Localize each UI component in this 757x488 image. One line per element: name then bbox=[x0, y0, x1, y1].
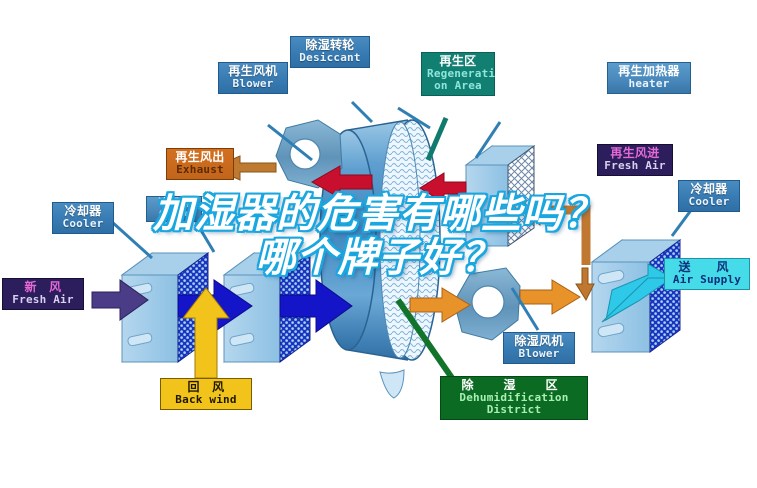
label-dehumidify-blower-cn: 除湿风机 bbox=[509, 335, 569, 348]
label-cooler-right-cn: 冷却器 bbox=[684, 183, 734, 196]
label-cooler-right[interactable]: 冷却器 Cooler bbox=[678, 180, 740, 212]
label-regen-exhaust-en: Exhaust bbox=[172, 164, 228, 176]
heater-inlet-arrow bbox=[524, 201, 594, 300]
label-regeneration-area-cn: 再生区 bbox=[427, 55, 489, 68]
regen-hot-arrow-2 bbox=[420, 173, 466, 203]
label-desiccant-wheel[interactable]: 除湿转轮 Desiccant bbox=[290, 36, 370, 68]
regen-hot-arrow bbox=[312, 166, 372, 198]
label-air-supply-cn: 送 风 bbox=[670, 261, 744, 274]
label-regeneration-area[interactable]: 再生区 Regenerati on Area bbox=[421, 52, 495, 96]
fresh-air-inlet-arrow bbox=[92, 280, 148, 320]
dehumidified-arrow-1 bbox=[410, 288, 470, 322]
label-fresh-air-inlet-en: Fresh Air bbox=[8, 294, 78, 306]
label-regen-exhaust[interactable]: 再生风出 Exhaust bbox=[166, 148, 234, 180]
label-cooler-right-en: Cooler bbox=[684, 196, 734, 208]
cooler-coil-mid bbox=[224, 253, 310, 362]
label-back-wind-cn: 回 风 bbox=[166, 381, 246, 394]
leader-line-dehumidification bbox=[398, 300, 452, 378]
label-air-supply-en: Air Supply bbox=[670, 274, 744, 286]
label-dehumidification-district[interactable]: 除 湿 区 Dehumidification District bbox=[440, 376, 588, 420]
label-air-supply[interactable]: 送 风 Air Supply bbox=[664, 258, 750, 290]
regeneration-blower bbox=[276, 120, 342, 188]
label-fresh-air-inlet-cn: 新 风 bbox=[8, 281, 78, 294]
label-regen-heater-en: heater bbox=[613, 78, 685, 90]
label-fresh-air-inlet[interactable]: 新 风 Fresh Air bbox=[2, 278, 84, 310]
cooler-coil-right bbox=[592, 240, 680, 352]
label-cooler-left-small-en: Cooler bbox=[152, 210, 196, 219]
label-dehumidify-blower[interactable]: 除湿风机 Blower bbox=[503, 332, 575, 364]
regeneration-heater-coil bbox=[466, 146, 534, 246]
label-regen-blower[interactable]: 再生风机 Blower bbox=[218, 62, 288, 94]
label-regen-heater-cn: 再生加热器 bbox=[613, 65, 685, 78]
cooler-coil-left bbox=[122, 253, 208, 362]
air-supply-arrow bbox=[602, 264, 672, 322]
leader-line-regeneration bbox=[428, 118, 446, 160]
label-regen-fresh-air-cn: 再生风进 bbox=[603, 147, 667, 160]
process-air-arrow-2 bbox=[280, 280, 352, 332]
label-regen-blower-en: Blower bbox=[224, 78, 282, 90]
label-regen-heater[interactable]: 再生加热器 heater bbox=[607, 62, 691, 94]
label-desiccant-wheel-cn: 除湿转轮 bbox=[296, 39, 364, 52]
label-dehumidification-district-cn: 除 湿 区 bbox=[446, 379, 582, 392]
label-back-wind-en: Back wind bbox=[166, 394, 246, 406]
label-regen-fresh-air-en: Fresh Air bbox=[603, 160, 667, 172]
back-wind-arrow bbox=[183, 288, 229, 378]
label-cooler-left-cn: 冷却器 bbox=[58, 205, 108, 218]
dehumidifier-flow-diagram: 再生风机 Blower 除湿转轮 Desiccant 再生区 Regenerat… bbox=[0, 0, 757, 488]
label-regen-fresh-air[interactable]: 再生风进 Fresh Air bbox=[597, 144, 673, 176]
dehumidified-arrow-2 bbox=[520, 280, 580, 314]
desiccant-rotor-wheel bbox=[320, 120, 440, 398]
headline-line-2: 哪个牌子好？ bbox=[0, 236, 757, 280]
label-regen-blower-cn: 再生风机 bbox=[224, 65, 282, 78]
label-cooler-left-en: Cooler bbox=[58, 218, 108, 230]
label-dehumidify-blower-en: Blower bbox=[509, 348, 569, 360]
label-regen-exhaust-cn: 再生风出 bbox=[172, 151, 228, 164]
label-cooler-left-small[interactable]: 冷却器 Cooler bbox=[146, 196, 202, 222]
label-cooler-left[interactable]: 冷却器 Cooler bbox=[52, 202, 114, 234]
label-back-wind[interactable]: 回 风 Back wind bbox=[160, 378, 252, 410]
label-desiccant-wheel-en: Desiccant bbox=[296, 52, 364, 64]
process-air-arrow-1 bbox=[178, 280, 252, 332]
label-regeneration-area-en2: on Area bbox=[427, 80, 489, 92]
label-dehumidification-district-en2: District bbox=[446, 404, 582, 416]
dehumidification-blower bbox=[454, 268, 520, 340]
